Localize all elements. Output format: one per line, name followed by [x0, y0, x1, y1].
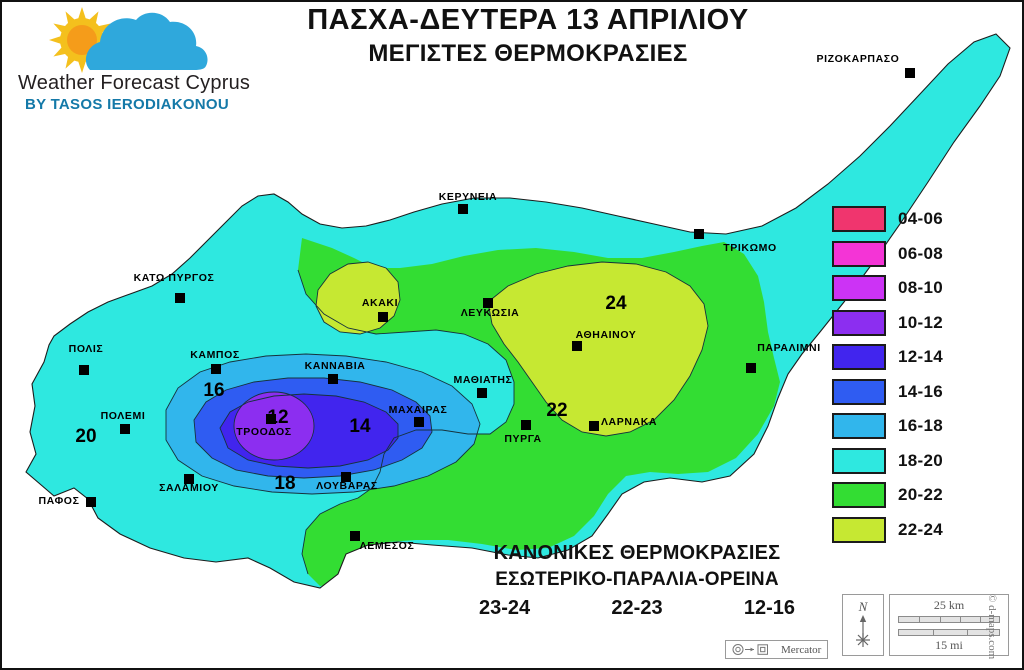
circle-icon — [733, 645, 743, 655]
page-subtitle: ΜΕΓΙΣΤΕΣ ΘΕΡΜΟΚΡΑΣΙΕΣ — [238, 40, 818, 68]
city-label: ΠΑΦΟΣ — [39, 495, 80, 507]
city-label: ΠΟΛΙΣ — [69, 343, 104, 355]
square-icon — [758, 645, 768, 655]
city-label: ΜΑΘΙΑΤΗΣ — [454, 374, 513, 386]
city-label: ΤΡΙΚΩΜΟ — [723, 242, 776, 254]
city-label: ΡΙΖΟΚΑΡΠΑΣΟ — [817, 53, 900, 65]
legend-row[interactable]: 16-18 — [832, 409, 1002, 444]
legend-swatch-08-10 — [832, 275, 886, 301]
legend-swatch-06-08 — [832, 241, 886, 267]
city-marker[interactable] — [120, 424, 130, 434]
logo-line-2: BY TASOS IERODIAKONOU — [18, 96, 236, 113]
page-title: ΠΑΣΧΑ-ΔΕΥΤΕΡΑ 13 ΑΠΡΙΛΙΟΥ — [238, 4, 818, 37]
city-label: ΛΕΜΕΣΟΣ — [360, 540, 415, 552]
city-label: ΠΑΡΑΛΙΜΝΙ — [757, 342, 821, 354]
city-label: ΚΑΜΠΟΣ — [190, 349, 240, 361]
legend-swatch-12-14 — [832, 344, 886, 370]
city-label: ΠΟΛΕΜΙ — [101, 410, 146, 422]
normal-temperatures-note: ΚΑΝΟΝΙΚΕΣ ΘΕΡΜΟΚΡΑΣΙΕΣ ΕΣΩΤΕΡΙΚΟ-ΠΑΡΑΛΙΑ… — [457, 542, 817, 620]
city-label: ΛΕΥΚΩΣΙΑ — [461, 307, 520, 319]
legend-label: 18-20 — [898, 451, 943, 471]
legend-swatch-04-06 — [832, 206, 886, 232]
city-marker[interactable] — [378, 312, 388, 322]
contour-value-label: 18 — [274, 473, 295, 494]
city-marker[interactable] — [521, 420, 531, 430]
legend-row[interactable]: 06-08 — [832, 237, 1002, 272]
legend-swatch-18-20 — [832, 448, 886, 474]
city-marker[interactable] — [328, 374, 338, 384]
projection-label: Mercator — [781, 644, 821, 656]
note-line-1: ΚΑΝΟΝΙΚΕΣ ΘΕΡΜΟΚΡΑΣΙΕΣ — [457, 542, 817, 565]
legend-row[interactable]: 22-24 — [832, 513, 1002, 548]
contour-value-label: 24 — [605, 293, 627, 314]
legend-row[interactable]: 18-20 — [832, 444, 1002, 479]
city-label: ΚΑΝΝΑΒΙΑ — [305, 360, 366, 372]
contour-value-label: 20 — [75, 426, 96, 447]
logo-mark — [20, 6, 220, 74]
weather-map-page: ΡΙΖΟΚΑΡΠΑΣΟΚΕΡΥΝΕΙΑΤΡΙΚΩΜΟΚΑΤΩ ΠΥΡΓΟΣΠΟΛ… — [0, 0, 1024, 670]
note-value: 12-16 — [744, 597, 795, 620]
city-marker[interactable] — [746, 363, 756, 373]
city-marker[interactable] — [477, 388, 487, 398]
legend-row[interactable]: 04-06 — [832, 202, 1002, 237]
city-marker[interactable] — [175, 293, 185, 303]
legend-label: 22-24 — [898, 520, 943, 540]
city-label: ΑΚΑΚΙ — [362, 297, 398, 309]
legend-label: 16-18 — [898, 416, 943, 436]
legend-swatch-16-18 — [832, 413, 886, 439]
note-values-row: 23-2422-2312-16 — [457, 597, 817, 620]
city-label: ΛΟΥΒΑΡΑΣ — [316, 480, 378, 492]
legend-label: 10-12 — [898, 313, 943, 333]
city-marker[interactable] — [414, 417, 424, 427]
legend-row[interactable]: 10-12 — [832, 306, 1002, 341]
legend-row[interactable]: 12-14 — [832, 340, 1002, 375]
map-scale-block: N 25 km — [842, 594, 1009, 656]
city-label: ΚΕΡΥΝΕΙΑ — [439, 191, 497, 203]
compass-north-icon — [843, 613, 883, 657]
scale-bar-mi — [898, 629, 1000, 636]
temperature-legend: 04-0606-0808-1010-1212-1414-1616-1818-20… — [832, 202, 1002, 547]
city-marker[interactable] — [458, 204, 468, 214]
legend-label: 04-06 — [898, 209, 943, 229]
city-marker[interactable] — [589, 421, 599, 431]
legend-label: 12-14 — [898, 347, 943, 367]
note-value: 22-23 — [611, 597, 662, 620]
circle-inner-icon — [736, 647, 740, 651]
contour-value-label: 22 — [546, 400, 567, 421]
legend-swatch-10-12 — [832, 310, 886, 336]
legend-row[interactable]: 20-22 — [832, 478, 1002, 513]
legend-swatch-22-24 — [832, 517, 886, 543]
legend-label: 08-10 — [898, 278, 943, 298]
brand-logo: Weather Forecast Cyprus BY TASOS IERODIA… — [10, 4, 238, 116]
city-marker[interactable] — [905, 68, 915, 78]
legend-swatch-14-16 — [832, 379, 886, 405]
scale-bar-km — [898, 616, 1000, 623]
compass-rose: N — [842, 594, 884, 656]
logo-line-1: Weather Forecast Cyprus — [18, 72, 236, 95]
projection-icons — [732, 643, 776, 656]
note-value: 23-24 — [479, 597, 530, 620]
city-label: ΠΥΡΓΑ — [504, 433, 541, 445]
legend-label: 06-08 — [898, 244, 943, 264]
city-label: ΛΑΡΝΑΚΑ — [601, 416, 657, 428]
arrow-head-icon — [751, 648, 755, 652]
legend-row[interactable]: 08-10 — [832, 271, 1002, 306]
cloud-icon — [86, 13, 208, 70]
map-credit: © d-maps.com — [986, 594, 998, 659]
city-marker[interactable] — [211, 364, 221, 374]
city-marker[interactable] — [694, 229, 704, 239]
city-marker[interactable] — [572, 341, 582, 351]
city-label: ΑΘΗΑΙΝΟΥ — [576, 329, 637, 341]
city-label: ΚΑΤΩ ΠΥΡΓΟΣ — [134, 272, 215, 284]
legend-row[interactable]: 14-16 — [832, 375, 1002, 410]
city-marker[interactable] — [350, 531, 360, 541]
contour-value-label: 12 — [267, 407, 288, 428]
square-inner-icon — [761, 647, 765, 651]
city-label: ΣΑΛΑΜΙΟΥ — [159, 482, 219, 494]
projection-indicator: Mercator — [725, 640, 828, 659]
contour-value-label: 16 — [203, 380, 224, 401]
city-marker[interactable] — [79, 365, 89, 375]
note-line-2: ΕΣΩΤΕΡΙΚΟ-ΠΑΡΑΛΙΑ-ΟΡΕΙΝΑ — [457, 569, 817, 591]
contour-value-label: 14 — [349, 416, 371, 437]
legend-swatch-20-22 — [832, 482, 886, 508]
city-label: ΜΑΧΑΙΡΑΣ — [389, 404, 448, 416]
legend-label: 20-22 — [898, 485, 943, 505]
legend-label: 14-16 — [898, 382, 943, 402]
city-marker[interactable] — [86, 497, 96, 507]
